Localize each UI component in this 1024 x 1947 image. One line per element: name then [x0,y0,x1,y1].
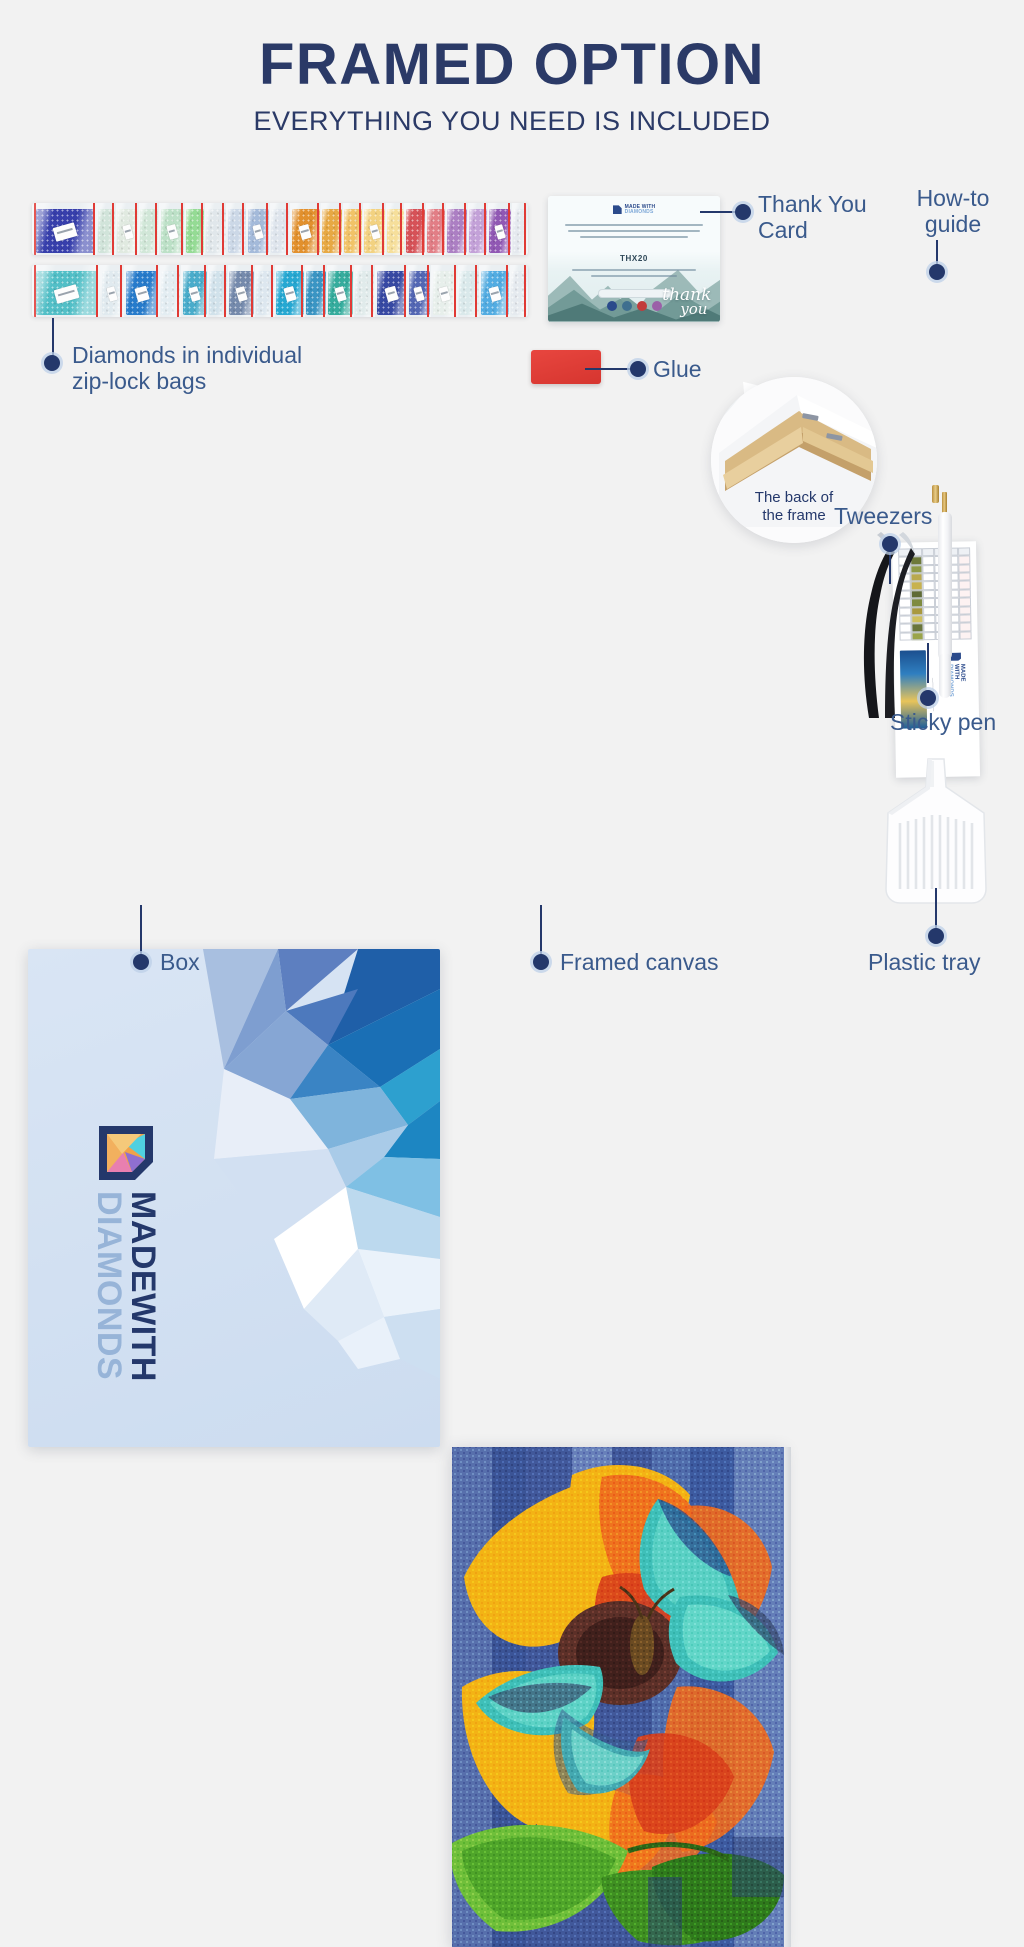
bag-zip-seal [508,203,510,255]
bag-zip-seal [201,203,203,255]
diamond-bag [343,203,363,255]
diamond-bag [431,265,458,317]
canvas-frame-edge [784,1447,791,1947]
bag-zip-seal [464,203,466,255]
callout-label-framed-canvas: Framed canvas [560,950,719,976]
callout-label-glue: Glue [653,357,702,383]
guide-table-header-cell [922,548,934,557]
guide-table-cell [923,581,935,590]
bag-zip-seal [286,203,288,255]
leader-line-diamonds [52,318,54,360]
bag-zip-seal [135,203,137,255]
diamond-logo-icon [613,205,622,214]
diamond-bag [446,203,468,255]
diamond-bag [255,265,275,317]
bag-zip-seal [524,265,526,317]
bag-zip-seal [506,265,508,317]
card-thank-you-script: thank you [662,288,711,317]
diamond-logo-svg [97,1124,155,1182]
bag-zip-seal [350,265,352,317]
card-message-text [565,224,703,238]
leader-line-plastic-tray [935,888,937,930]
callout-label-how-to-guide-line1: How-to [893,186,1013,212]
callout-dot-plastic-tray [928,928,944,944]
callout-label-box: Box [160,950,200,976]
box-brand-line2: DIAMONDS [92,1191,126,1382]
diamond-bag [290,203,321,255]
bag-zip-seal [427,265,429,317]
tweezers [855,530,915,720]
diamond-bag [327,265,354,317]
guide-table-cell [959,606,971,615]
diamond-bag [458,265,480,317]
diamond-bag [159,203,184,255]
diamond-bag [354,265,376,317]
page-title: FRAMED OPTION [0,36,1024,94]
bag-zip-seal [475,265,477,317]
guide-table-cell [959,589,971,598]
framed-canvas [452,1447,784,1947]
leader-line-glue [585,368,633,370]
guide-table-header-cell [958,547,970,556]
diamond-bag [404,203,426,255]
bag-zip-seal [224,265,226,317]
callout-dot-tweezers [882,536,898,552]
card-message-text-2 [572,269,696,277]
pen-grip [939,654,951,698]
guide-table-cell [958,564,970,573]
diamond-bag [512,203,528,255]
leader-line-framed-canvas [540,905,542,955]
callout-label-diamonds-line1: Diamonds in individual [72,343,362,369]
glue-swatch [531,350,601,384]
diamond-dot-texture [452,1447,784,1947]
guide-table-cell [959,623,971,632]
diamond-bag [386,203,404,255]
bag-zip-seal [317,203,319,255]
bag-zip-seal [454,265,456,317]
guide-table-cell [958,556,970,565]
diamond-bag [208,265,228,317]
callout-dot-how-to-guide [929,264,945,280]
card-script-line2: you [676,303,711,317]
callout-label-how-to-guide-line2: guide [893,212,1013,238]
pen-tip-icon [942,492,947,514]
bag-zip-seal [251,265,253,317]
bag-zip-seal [34,265,36,317]
bag-zip-seal [422,203,424,255]
guide-table-cell [922,565,934,574]
diamond-bag [124,265,160,317]
guide-table-cell [959,581,971,590]
bag-zip-seal [382,203,384,255]
bag-zip-seal [222,203,224,255]
diamond-bag [32,265,100,317]
guide-table-cell [958,572,970,581]
bag-zip-seal [177,265,179,317]
bag-zip-seal [120,265,122,317]
guide-table-cell [959,614,971,623]
card-logo-line2: DIAMONDS [625,210,656,215]
bag-zip-seal [34,203,36,255]
callout-label-diamonds: Diamonds in individual zip-lock bags [72,343,362,395]
diamond-bag-row-1 [32,203,528,255]
diamond-bag [321,203,343,255]
card-logo: MADE WITH DIAMONDS [548,205,720,215]
callout-dot-thank-you-card [735,204,751,220]
bag-zip-seal [112,203,114,255]
callout-dot-box [133,954,149,970]
bag-zip-seal [93,203,95,255]
bag-zip-seal [359,203,361,255]
leader-line-tweezers [889,552,891,584]
guide-table-cell [922,556,934,565]
diamond-bag [270,203,290,255]
diamond-bag [305,265,327,317]
diamond-bag [181,265,208,317]
bag-zip-seal [271,265,273,317]
diamond-bag [116,203,140,255]
bag-zip-seal [242,203,244,255]
callout-label-plastic-tray: Plastic tray [868,950,980,976]
card-url-bar [598,289,672,298]
callout-dot-glue [630,361,646,377]
box-brand-lockup: MADEWITH DIAMONDS [92,1124,160,1382]
card-discount-code: THX20 [548,254,720,263]
diamond-bag [185,203,205,255]
leader-line-box [140,905,142,955]
bag-zip-seal [404,265,406,317]
bag-zip-seal [484,203,486,255]
bag-zip-seal [204,265,206,317]
bag-zip-seal [181,203,183,255]
canvas-artwork [452,1447,784,1947]
leader-line-thank-you-card [700,211,738,213]
pinterest-icon [637,301,647,311]
diamond-bag [375,265,407,317]
diamond-bag [226,203,246,255]
diamond-logo-icon [97,1124,155,1182]
diamond-bag [139,203,159,255]
bag-zip-seal [442,203,444,255]
bag-zip-seal [155,203,157,255]
twitter-icon [622,301,632,311]
thank-you-card: MADE WITH DIAMONDS THX20 thank you [548,196,720,322]
bag-zip-seal [400,203,402,255]
diamond-bag [426,203,446,255]
diamond-bag-row-2 [32,265,528,317]
tweezers-svg [855,530,915,720]
page-subtitle: EVERYTHING YOU NEED IS INCLUDED [0,108,1024,135]
infographic-root: FRAMED OPTION EVERYTHING YOU NEED IS INC… [0,0,1024,1024]
diamond-bag [32,203,97,255]
diamond-bag [246,203,270,255]
callout-label-how-to-guide: How-to guide [893,186,1013,238]
bag-zip-seal [96,265,98,317]
diamond-bag [97,203,115,255]
callout-label-tweezers: Tweezers [834,504,932,530]
callout-dot-sticky-pen [920,690,936,706]
leader-line-sticky-pen [927,643,929,683]
guide-table-cell [922,573,934,582]
diamond-bag [488,203,512,255]
bag-zip-seal [524,203,526,255]
facebook-icon [607,301,617,311]
bag-zip-seal [371,265,373,317]
diamond-bag [468,203,488,255]
guide-table-cell [960,631,972,640]
diamond-bag [228,265,255,317]
diamond-bag [205,203,227,255]
bag-zip-seal [156,265,158,317]
bag-zip-seal [266,203,268,255]
card-logo-text: MADE WITH DIAMONDS [625,205,656,215]
diamond-bag [408,265,431,317]
instagram-icon [652,301,662,311]
box-brand-text: MADEWITH DIAMONDS [92,1191,160,1382]
diamond-bag [510,265,528,317]
diamond-bag [100,265,123,317]
callout-dot-framed-canvas [533,954,549,970]
callout-label-sticky-pen: Sticky pen [890,710,996,736]
sticky-pen [934,492,956,698]
diamond-bag [363,203,387,255]
callout-label-diamonds-line2: zip-lock bags [72,369,362,395]
diamond-bag [160,265,182,317]
bag-zip-seal [339,203,341,255]
bag-zip-seal [301,265,303,317]
pen-body [938,512,952,660]
diamond-bag [275,265,306,317]
guide-table-cell [959,598,971,607]
diamond-bag [479,265,510,317]
box-brand-line1: MADEWITH [124,1191,162,1382]
callout-dot-diamonds [44,355,60,371]
bag-zip-seal [323,265,325,317]
